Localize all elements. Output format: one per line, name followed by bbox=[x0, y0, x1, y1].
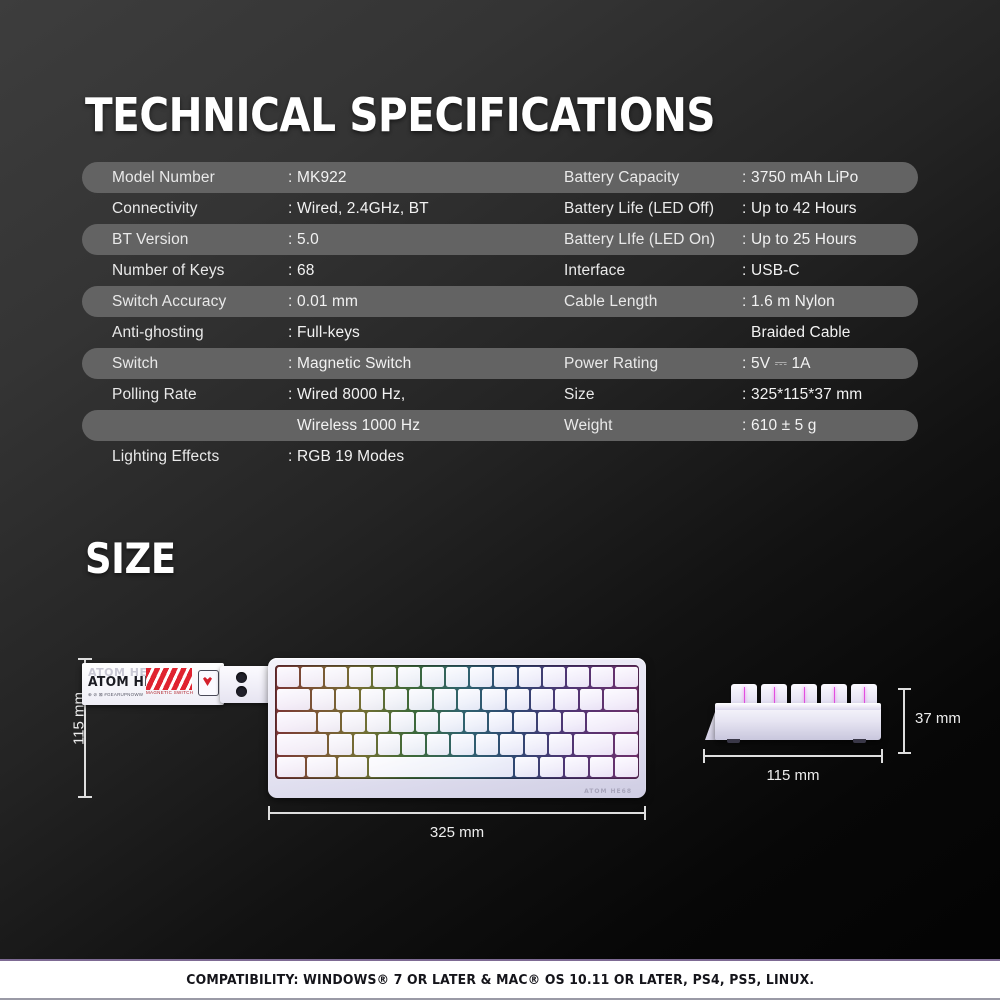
spec-value-text: 0.01 mm bbox=[297, 293, 358, 310]
spec-cell-right: Interface:USB-C bbox=[534, 255, 918, 286]
infographic-page: TECHNICAL SPECIFICATIONS Model Number:MK… bbox=[0, 0, 1000, 1000]
keycap bbox=[549, 734, 571, 754]
keycap bbox=[567, 667, 589, 687]
rgb-light-line bbox=[804, 687, 805, 703]
spec-row: Wireless 1000 HzWeight:610 ± 5 g bbox=[82, 410, 918, 441]
spec-value: :Up to 42 Hours bbox=[742, 200, 857, 218]
spec-cell-right: Power Rating:5V ⎓ 1A bbox=[534, 348, 918, 379]
keyboard-side-view bbox=[705, 678, 881, 748]
spec-value-text: MK922 bbox=[297, 169, 347, 186]
dimension-label-thickness: 37 mm bbox=[915, 710, 961, 727]
keycap bbox=[465, 712, 487, 732]
keycap bbox=[367, 712, 389, 732]
keycap bbox=[378, 734, 400, 754]
spec-cell-left: Wireless 1000 Hz bbox=[82, 410, 534, 441]
spec-value: :610 ± 5 g bbox=[742, 417, 816, 435]
section-title-size: SIZE bbox=[85, 534, 176, 583]
spec-cell-right: Battery Capacity:3750 mAh LiPo bbox=[534, 162, 918, 193]
spec-cell-right: Battery Life (LED Off):Up to 42 Hours bbox=[534, 193, 918, 224]
keycap bbox=[277, 689, 311, 709]
spec-label: BT Version bbox=[82, 231, 288, 249]
stripe-caption: MAGNETIC SWITCH bbox=[146, 690, 193, 695]
brand-micro-text: ⊕ ⊘ ⊠ #GEARUPNOWW bbox=[88, 692, 143, 698]
rgb-light-line bbox=[774, 687, 775, 703]
spec-value-text: 68 bbox=[297, 262, 314, 279]
spec-row: Anti-ghosting:Full-keysBraided Cable bbox=[82, 317, 918, 348]
spec-value: :Wired, 2.4GHz, BT bbox=[288, 200, 429, 218]
rgb-light-line bbox=[864, 687, 865, 703]
spec-value: :Up to 25 Hours bbox=[742, 231, 857, 249]
keycap bbox=[434, 689, 456, 709]
keycap bbox=[615, 667, 637, 687]
spec-cell-left: Polling Rate:Wired 8000 Hz, bbox=[82, 379, 534, 410]
keycap bbox=[422, 667, 444, 687]
dimension-cap-left bbox=[268, 806, 270, 820]
spec-value: :325*115*37 mm bbox=[742, 386, 862, 404]
rgb-light-line bbox=[834, 687, 835, 703]
spec-value: :1.6 m Nylon bbox=[742, 293, 835, 311]
spec-value-text: 3750 mAh LiPo bbox=[751, 169, 858, 186]
dimension-line bbox=[903, 688, 905, 754]
spec-label: Battery LIfe (LED On) bbox=[534, 231, 742, 249]
spec-cell-right: Braided Cable bbox=[534, 317, 918, 348]
dimension-cap-top bbox=[898, 688, 911, 690]
spec-label: Switch bbox=[82, 355, 288, 373]
spec-cell-right: Battery LIfe (LED On):Up to 25 Hours bbox=[534, 224, 918, 255]
keycap bbox=[514, 712, 536, 732]
keycap bbox=[277, 757, 306, 777]
keycap bbox=[565, 757, 588, 777]
spec-value-text: Wireless 1000 Hz bbox=[297, 417, 420, 434]
spec-value: :5V ⎓ 1A bbox=[742, 355, 811, 373]
keycap bbox=[277, 734, 328, 754]
spec-value: Wireless 1000 Hz bbox=[288, 417, 420, 435]
keyboard-side-tab bbox=[220, 666, 272, 703]
spec-label: Power Rating bbox=[534, 355, 742, 373]
spec-label: Model Number bbox=[82, 169, 288, 187]
keycap bbox=[325, 667, 347, 687]
spec-cell-left: Model Number:MK922 bbox=[82, 162, 534, 193]
spec-value: :0.01 mm bbox=[288, 293, 358, 311]
keycap bbox=[519, 667, 541, 687]
keycap bbox=[361, 689, 383, 709]
size-diagram-area: 115 mm ATOM HE ATOM HE ⊕ ⊘ ⊠ #GEARUPNOWW… bbox=[0, 600, 1000, 880]
tab-hole-bottom bbox=[236, 686, 247, 697]
dimension-label-width: 325 mm bbox=[268, 824, 646, 841]
spec-cell-left: Anti-ghosting:Full-keys bbox=[82, 317, 534, 348]
spec-cell-right: Cable Length:1.6 m Nylon bbox=[534, 286, 918, 317]
keycap bbox=[591, 667, 613, 687]
spec-value: :Full-keys bbox=[288, 324, 360, 342]
keycap bbox=[604, 689, 638, 709]
spec-cell-right bbox=[534, 441, 918, 472]
keycap bbox=[416, 712, 438, 732]
spec-row: Connectivity:Wired, 2.4GHz, BTBattery Li… bbox=[82, 193, 918, 224]
dimension-line bbox=[268, 812, 646, 814]
spec-cell-right: Weight:610 ± 5 g bbox=[534, 410, 918, 441]
keycap bbox=[470, 667, 492, 687]
keycap bbox=[318, 712, 340, 732]
keycap bbox=[574, 734, 613, 754]
spec-label: Interface bbox=[534, 262, 742, 280]
red-stripes-graphic bbox=[146, 668, 192, 690]
keycap bbox=[587, 712, 638, 732]
dimension-label-side-width: 115 mm bbox=[703, 767, 883, 784]
spec-cell-left: Switch:Magnetic Switch bbox=[82, 348, 534, 379]
keycap bbox=[385, 689, 407, 709]
keycap bbox=[476, 734, 498, 754]
keycap bbox=[277, 712, 316, 732]
spec-label: Switch Accuracy bbox=[82, 293, 288, 311]
spec-row: Lighting Effects:RGB 19 Modes bbox=[82, 441, 918, 472]
spec-value: :USB-C bbox=[742, 262, 800, 280]
keycap bbox=[427, 734, 449, 754]
keycap bbox=[590, 757, 613, 777]
spec-value-text: Wired 8000 Hz, bbox=[297, 386, 405, 403]
keycap bbox=[615, 757, 638, 777]
keycap bbox=[329, 734, 351, 754]
keyboard-row bbox=[276, 756, 638, 778]
spec-label: Size bbox=[534, 386, 742, 404]
keycap bbox=[563, 712, 585, 732]
spec-value: Braided Cable bbox=[742, 324, 851, 342]
keyboard-bottom-logo: ATOM HE68 bbox=[584, 788, 632, 795]
compatibility-text: COMPATIBILITY: WINDOWS® 7 OR LATER & MAC… bbox=[186, 972, 814, 988]
keycap bbox=[540, 757, 563, 777]
spec-cell-left: Number of Keys:68 bbox=[82, 255, 534, 286]
dimension-thickness-37mm: 37 mm bbox=[898, 688, 958, 754]
spec-label: Number of Keys bbox=[82, 262, 288, 280]
keycap bbox=[312, 689, 334, 709]
keycap bbox=[515, 757, 538, 777]
dimension-cap-right bbox=[644, 806, 646, 820]
spec-value-text: RGB 19 Modes bbox=[297, 448, 404, 465]
compatibility-footer: COMPATIBILITY: WINDOWS® 7 OR LATER & MAC… bbox=[0, 959, 1000, 1000]
spec-cell-left: BT Version:5.0 bbox=[82, 224, 534, 255]
spec-row: BT Version:5.0Battery LIfe (LED On):Up t… bbox=[82, 224, 918, 255]
spec-cell-left: Connectivity:Wired, 2.4GHz, BT bbox=[82, 193, 534, 224]
spec-value-text: Magnetic Switch bbox=[297, 355, 411, 372]
keycap bbox=[391, 712, 413, 732]
dimension-cap-top bbox=[78, 658, 92, 660]
spec-row: Model Number:MK922Battery Capacity:3750 … bbox=[82, 162, 918, 193]
spec-row: Switch Accuracy:0.01 mmCable Length:1.6 … bbox=[82, 286, 918, 317]
keycap bbox=[525, 734, 547, 754]
keycap bbox=[307, 757, 336, 777]
spec-row: Number of Keys:68Interface:USB-C bbox=[82, 255, 918, 286]
keycap bbox=[373, 667, 395, 687]
keycap bbox=[531, 689, 553, 709]
keyboard-brand-label: ATOM HE ATOM HE ⊕ ⊘ ⊠ #GEARUPNOWW MAGNET… bbox=[82, 663, 224, 705]
spec-value-text: Full-keys bbox=[297, 324, 360, 341]
rgb-light-line bbox=[744, 687, 745, 703]
spec-value: :RGB 19 Modes bbox=[288, 448, 404, 466]
spec-cell-left: Switch Accuracy:0.01 mm bbox=[82, 286, 534, 317]
keycap bbox=[489, 712, 511, 732]
spec-value-text: 5V ⎓ 1A bbox=[751, 355, 811, 372]
spec-label: Lighting Effects bbox=[82, 448, 288, 466]
spec-row: Switch:Magnetic SwitchPower Rating:5V ⎓ … bbox=[82, 348, 918, 379]
spec-label: Battery Capacity bbox=[534, 169, 742, 187]
spec-label: Cable Length bbox=[534, 293, 742, 311]
keycap bbox=[500, 734, 522, 754]
spec-value-text: 610 ± 5 g bbox=[751, 417, 816, 434]
keyboard-row bbox=[276, 733, 638, 755]
keyboard-row bbox=[276, 666, 638, 688]
spec-value: :MK922 bbox=[288, 169, 347, 187]
keyboard-foot-front bbox=[727, 739, 740, 743]
keycap bbox=[398, 667, 420, 687]
keyboard-side-body bbox=[715, 706, 881, 740]
dimension-cap-bottom bbox=[78, 796, 92, 798]
dimension-cap-left bbox=[703, 749, 705, 763]
keycap bbox=[494, 667, 516, 687]
page-title-technical-specifications: TECHNICAL SPECIFICATIONS bbox=[85, 88, 715, 142]
spec-label: Polling Rate bbox=[82, 386, 288, 404]
specifications-table: Model Number:MK922Battery Capacity:3750 … bbox=[82, 162, 918, 472]
keycap bbox=[555, 689, 577, 709]
brand-text: ATOM HE bbox=[88, 675, 153, 690]
keycap bbox=[354, 734, 376, 754]
keycap bbox=[336, 689, 358, 709]
spec-value: :Magnetic Switch bbox=[288, 355, 411, 373]
spec-value-text: Wired, 2.4GHz, BT bbox=[297, 200, 429, 217]
dimension-line bbox=[703, 755, 883, 757]
spec-row: Polling Rate:Wired 8000 Hz,Size:325*115*… bbox=[82, 379, 918, 410]
keycap bbox=[402, 734, 424, 754]
spec-value: :68 bbox=[288, 262, 314, 280]
keycap bbox=[369, 757, 513, 777]
keycap bbox=[446, 667, 468, 687]
spec-value-text: 1.6 m Nylon bbox=[751, 293, 835, 310]
keyboard-foot-rear bbox=[853, 739, 866, 743]
keyboard-keys-plate bbox=[275, 665, 639, 779]
spec-value: :5.0 bbox=[288, 231, 319, 249]
tab-hole-top bbox=[236, 672, 247, 683]
spec-value-text: USB-C bbox=[751, 262, 800, 279]
keycap bbox=[451, 734, 473, 754]
spec-cell-left: Lighting Effects:RGB 19 Modes bbox=[82, 441, 534, 472]
spec-value-text: 325*115*37 mm bbox=[751, 386, 862, 403]
spec-value-text: Up to 42 Hours bbox=[751, 200, 857, 217]
spec-value: :3750 mAh LiPo bbox=[742, 169, 858, 187]
keycap bbox=[409, 689, 431, 709]
keycap bbox=[342, 712, 364, 732]
spec-label: Anti-ghosting bbox=[82, 324, 288, 342]
keycap bbox=[349, 667, 371, 687]
keyboard-top-view: ATOM HE ATOM HE ⊕ ⊘ ⊠ #GEARUPNOWW MAGNET… bbox=[268, 658, 646, 798]
spec-label: Connectivity bbox=[82, 200, 288, 218]
spec-value-text: Up to 25 Hours bbox=[751, 231, 857, 248]
spec-label: Battery Life (LED Off) bbox=[534, 200, 742, 218]
keycap bbox=[338, 757, 367, 777]
keycap bbox=[482, 689, 504, 709]
spec-cell-right: Size:325*115*37 mm bbox=[534, 379, 918, 410]
keycap bbox=[507, 689, 529, 709]
keycap bbox=[615, 734, 637, 754]
keycap bbox=[538, 712, 560, 732]
spec-value-text: 5.0 bbox=[297, 231, 319, 248]
keycap bbox=[458, 689, 480, 709]
keycap bbox=[440, 712, 462, 732]
keycap bbox=[301, 667, 323, 687]
keycap bbox=[277, 667, 299, 687]
spec-value-text: Braided Cable bbox=[751, 324, 851, 341]
keycap bbox=[543, 667, 565, 687]
keycap bbox=[580, 689, 602, 709]
spec-label: Weight bbox=[534, 417, 742, 435]
keyboard-row bbox=[276, 688, 638, 710]
spec-value: :Wired 8000 Hz, bbox=[288, 386, 405, 404]
keyboard-row bbox=[276, 711, 638, 733]
dimension-cap-bottom bbox=[898, 752, 911, 754]
dimension-cap-right bbox=[881, 749, 883, 763]
keyboard-side-top-edge bbox=[715, 703, 881, 710]
